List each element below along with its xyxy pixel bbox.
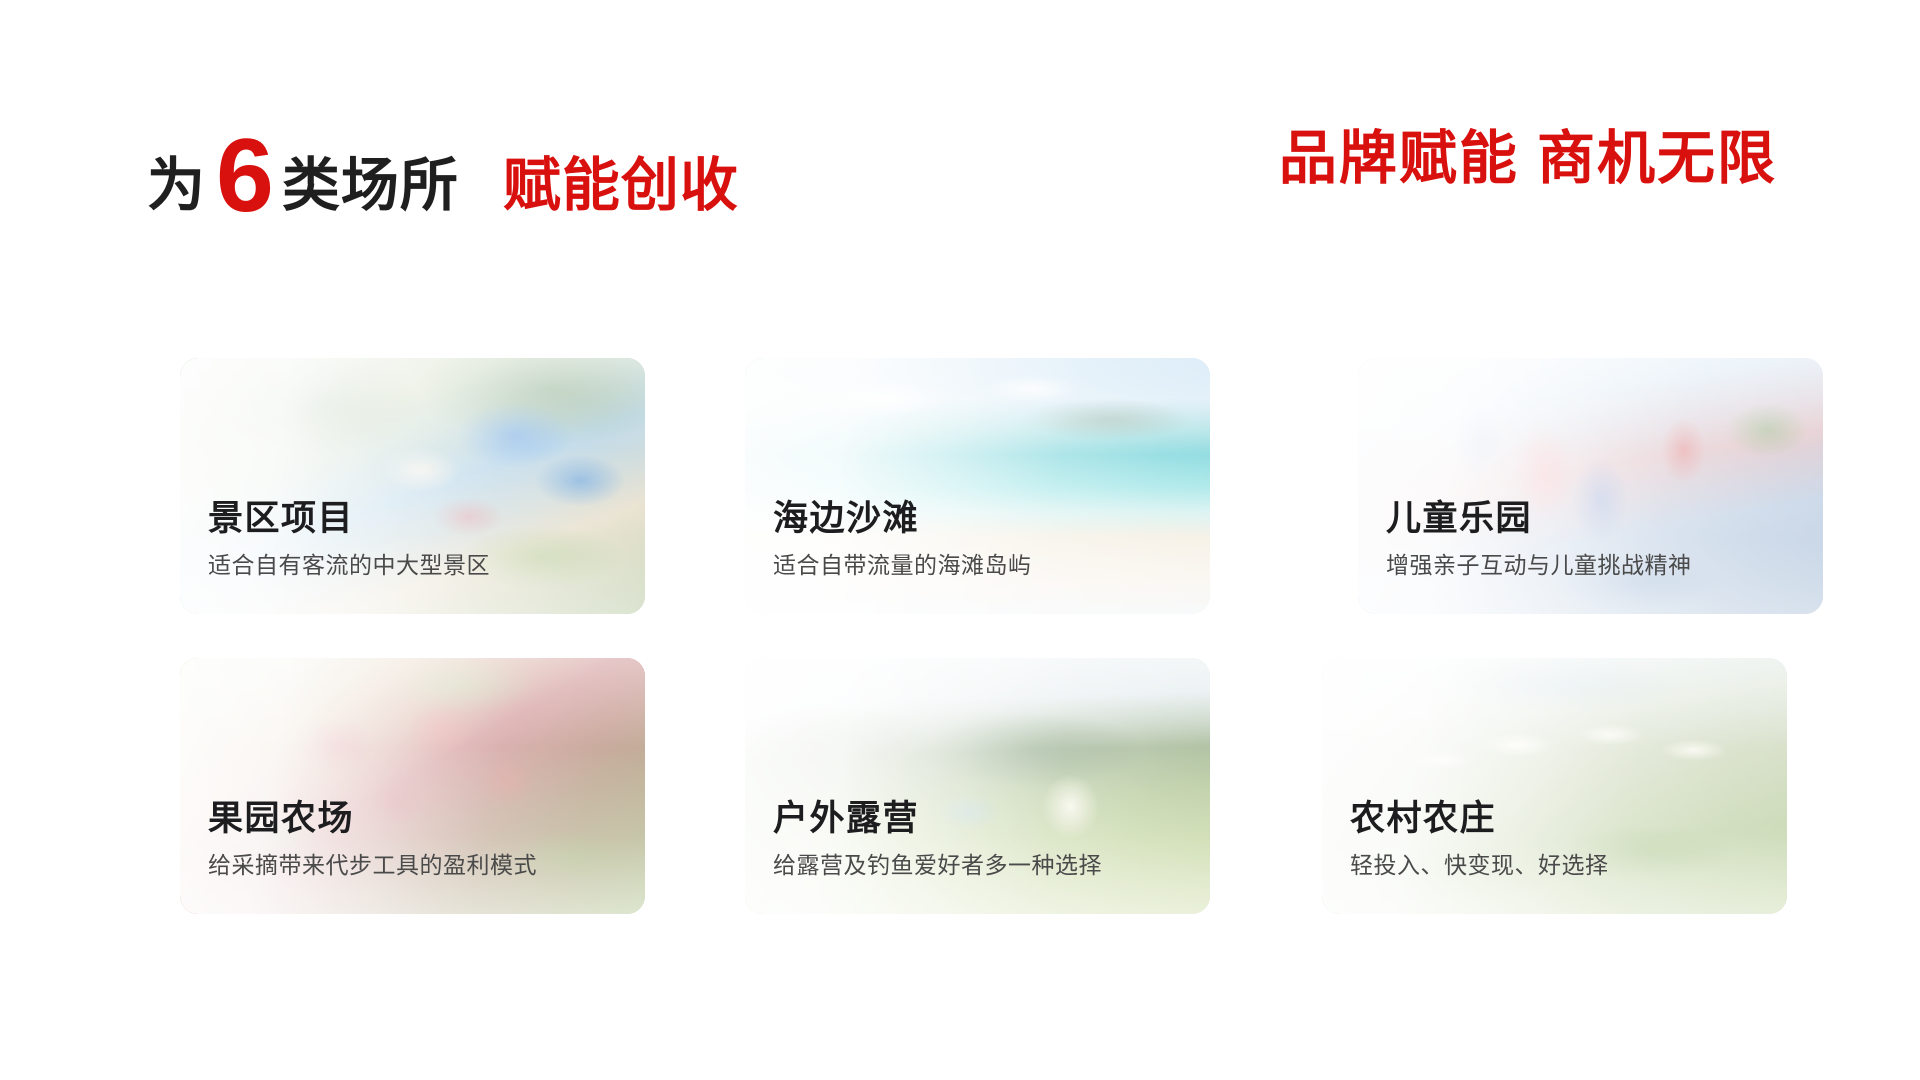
- card-subtitle: 给采摘带来代步工具的盈利模式: [208, 853, 537, 878]
- scenario-card-camping[interactable]: 户外露营 给露营及钓鱼爱好者多一种选择: [745, 658, 1210, 914]
- card-title: 果园农场: [208, 800, 537, 839]
- card-text-block: 儿童乐园 增强亲子互动与儿童挑战精神: [1386, 500, 1692, 578]
- card-subtitle: 适合自有客流的中大型景区: [208, 553, 490, 578]
- scenario-card-scenic[interactable]: 景区项目 适合自有客流的中大型景区: [180, 358, 645, 614]
- card-subtitle: 给露营及钓鱼爱好者多一种选择: [773, 853, 1102, 878]
- scenario-card-playground[interactable]: 儿童乐园 增强亲子互动与儿童挑战精神: [1358, 358, 1823, 614]
- scenario-card-orchard[interactable]: 果园农场 给采摘带来代步工具的盈利模式: [180, 658, 645, 914]
- card-title: 景区项目: [208, 500, 490, 539]
- card-title: 农村农庄: [1350, 800, 1609, 839]
- scenario-card-grid: 景区项目 适合自有客流的中大型景区 海边沙滩 适合自带流量的海滩岛屿 儿童乐园 …: [0, 0, 1920, 1080]
- card-title: 儿童乐园: [1386, 500, 1692, 539]
- scenario-card-farmstead[interactable]: 农村农庄 轻投入、快变现、好选择: [1322, 658, 1787, 914]
- card-text-block: 景区项目 适合自有客流的中大型景区: [208, 500, 490, 578]
- card-subtitle: 轻投入、快变现、好选择: [1350, 853, 1609, 878]
- card-text-block: 农村农庄 轻投入、快变现、好选择: [1350, 800, 1609, 878]
- card-text-block: 果园农场 给采摘带来代步工具的盈利模式: [208, 800, 537, 878]
- card-subtitle: 适合自带流量的海滩岛屿: [773, 553, 1032, 578]
- card-text-block: 户外露营 给露营及钓鱼爱好者多一种选择: [773, 800, 1102, 878]
- card-title: 海边沙滩: [773, 500, 1032, 539]
- card-text-block: 海边沙滩 适合自带流量的海滩岛屿: [773, 500, 1032, 578]
- scenario-card-beach[interactable]: 海边沙滩 适合自带流量的海滩岛屿: [745, 358, 1210, 614]
- card-title: 户外露营: [773, 800, 1102, 839]
- card-subtitle: 增强亲子互动与儿童挑战精神: [1386, 553, 1692, 578]
